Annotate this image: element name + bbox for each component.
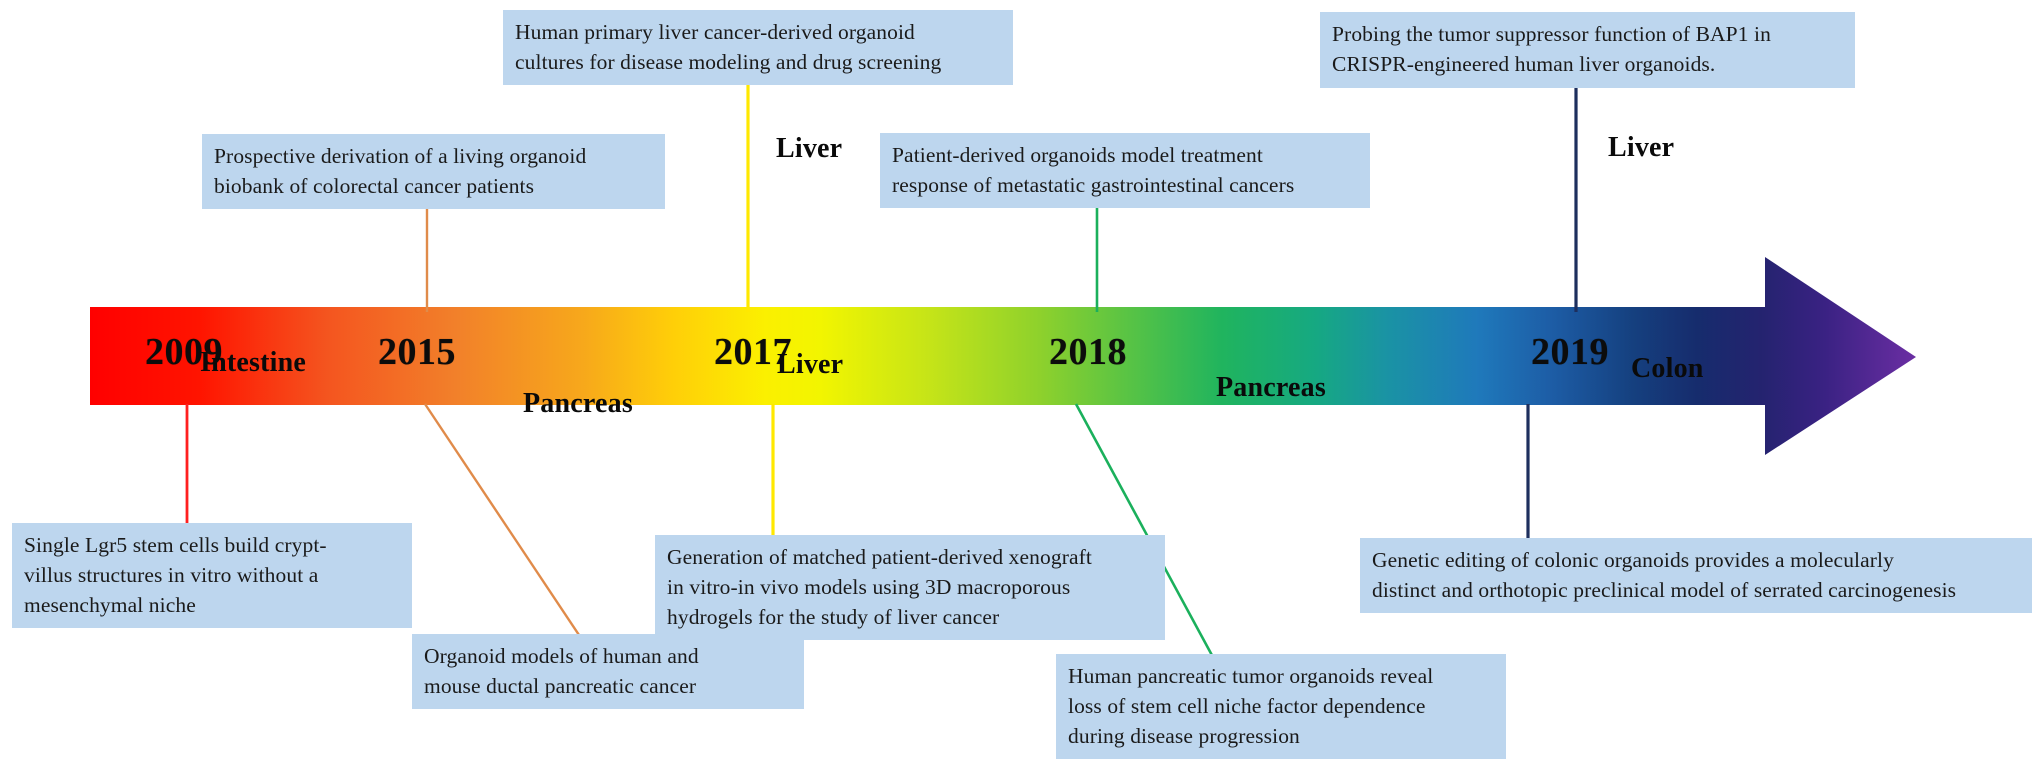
organ-label-liver-2017-b: Liver xyxy=(777,349,843,381)
organ-label-pancreas-2015: Pancreas xyxy=(523,388,633,420)
note-pancreas-2018: Human pancreatic tumor organoids reveal … xyxy=(1056,654,1506,759)
organ-label-colon-2019: Colon xyxy=(1631,353,1704,385)
note-colon-2015: Prospective derivation of a living organ… xyxy=(202,134,665,209)
note-intestine-2009: Single Lgr5 stem cells build crypt- vill… xyxy=(12,523,412,628)
note-liver-2019-top: Probing the tumor suppressor function of… xyxy=(1320,12,1855,88)
organ-label-pancreas-2018: Pancreas xyxy=(1216,372,1326,404)
note-gi-2018: Patient-derived organoids model treatmen… xyxy=(880,133,1370,208)
note-colon-2019: Genetic editing of colonic organoids pro… xyxy=(1360,538,2032,613)
organ-label-liver-2019: Liver xyxy=(1608,132,1674,164)
year-label-2015: 2015 xyxy=(378,330,456,374)
year-label-2019: 2019 xyxy=(1531,330,1609,374)
organ-label-liver-2017: Liver xyxy=(776,133,842,165)
note-liver-2017-bottom: Generation of matched patient-derived xe… xyxy=(655,535,1165,640)
note-liver-2017-top: Human primary liver cancer-derived organ… xyxy=(503,10,1013,85)
note-pancreas-2015: Organoid models of human and mouse ducta… xyxy=(412,634,804,709)
organ-label-intestine-2009: Intestine xyxy=(200,347,306,379)
year-label-2018: 2018 xyxy=(1049,330,1127,374)
timeline-graphics-layer xyxy=(0,0,2032,764)
timeline-figure: 20092015201720182019 ColonLiverGastroint… xyxy=(0,0,2032,764)
conn-pancreas-2015 xyxy=(425,404,595,659)
